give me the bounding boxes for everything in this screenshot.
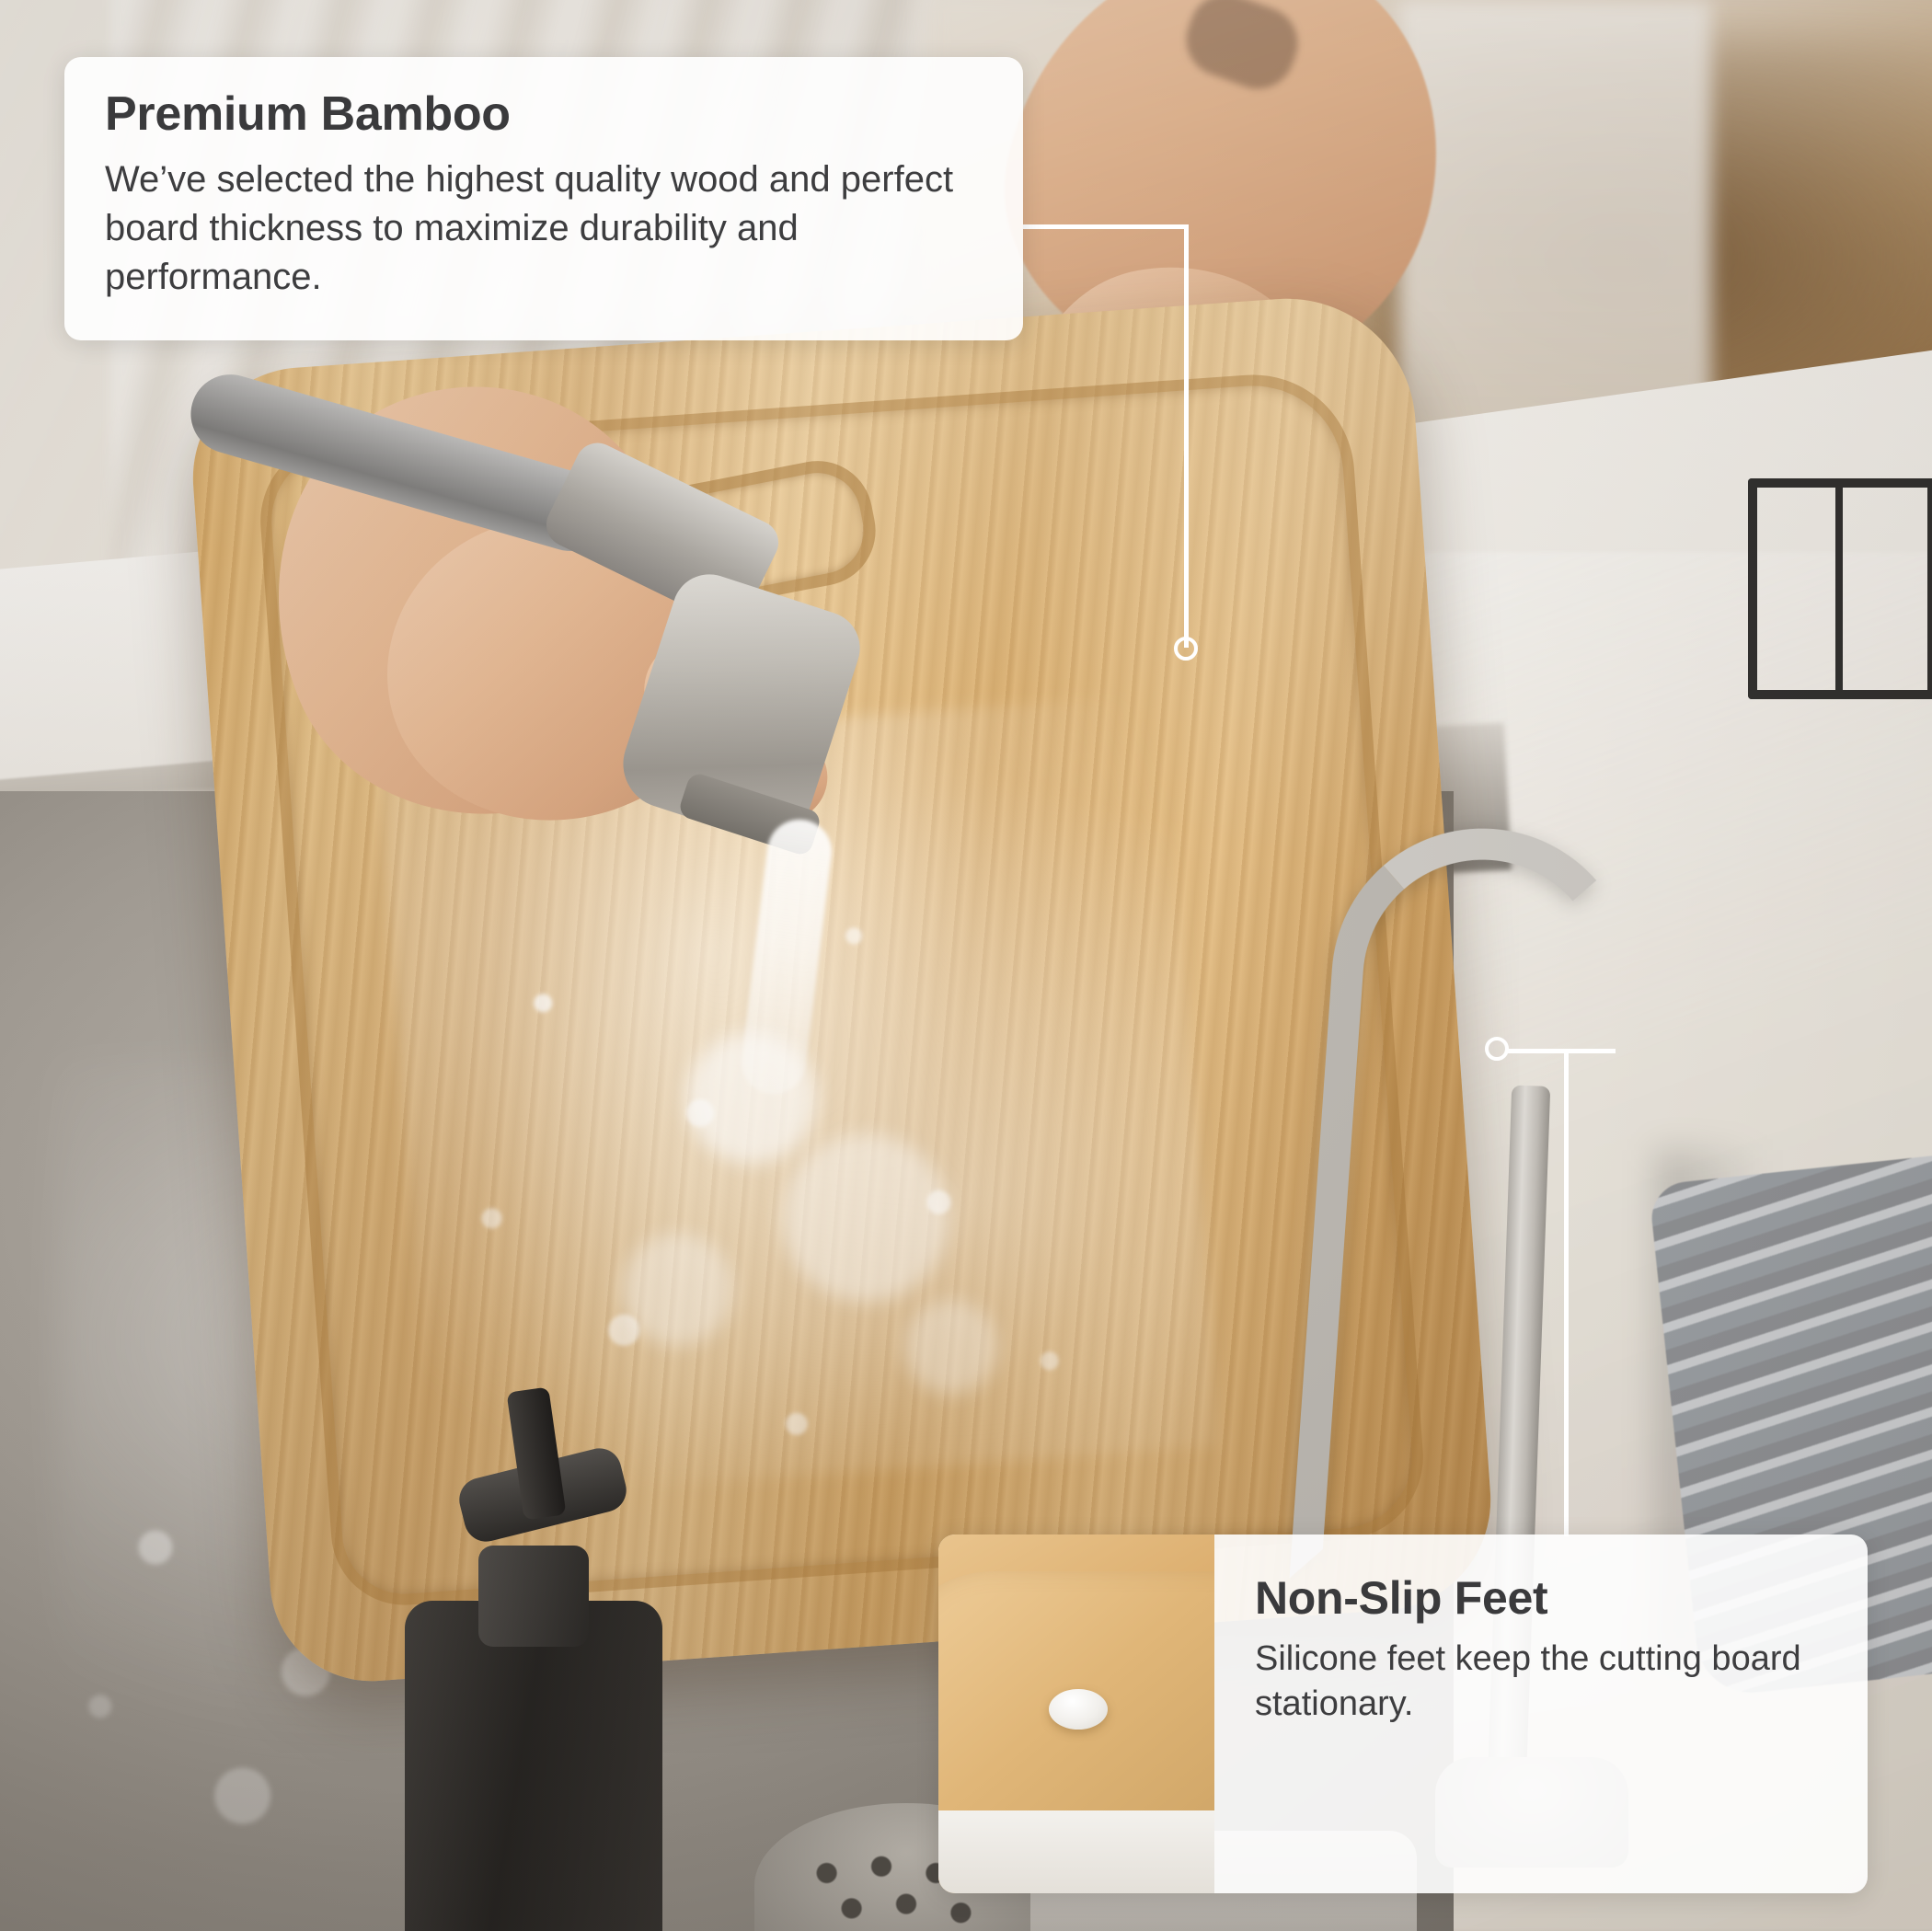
callout-body: Silicone feet keep the cutting board sta… [1255, 1637, 1831, 1728]
inset-counter-surface [938, 1810, 1214, 1893]
water-splash [552, 1003, 1122, 1481]
callout-title: Premium Bamboo [105, 88, 983, 141]
callout-body: We’ve selected the highest quality wood … [105, 155, 983, 301]
soap-dispenser-body [405, 1601, 662, 1931]
callout-title: Non-Slip Feet [1255, 1573, 1831, 1624]
callout-non-slip-feet: Non-Slip Feet Silicone feet keep the cut… [938, 1534, 1868, 1893]
dish-rack [1748, 478, 1932, 708]
faucet-arc [1290, 819, 1644, 1600]
callout-inset-photo [938, 1534, 1214, 1893]
callout-text-block: Non-Slip Feet Silicone feet keep the cut… [1214, 1534, 1868, 1893]
soap-dispenser-neck [478, 1546, 589, 1647]
product-infographic-image: Premium Bamboo We’ve selected the highes… [0, 0, 1932, 1931]
callout-premium-bamboo: Premium Bamboo We’ve selected the highes… [64, 57, 1023, 340]
silicone-foot [1049, 1689, 1108, 1730]
